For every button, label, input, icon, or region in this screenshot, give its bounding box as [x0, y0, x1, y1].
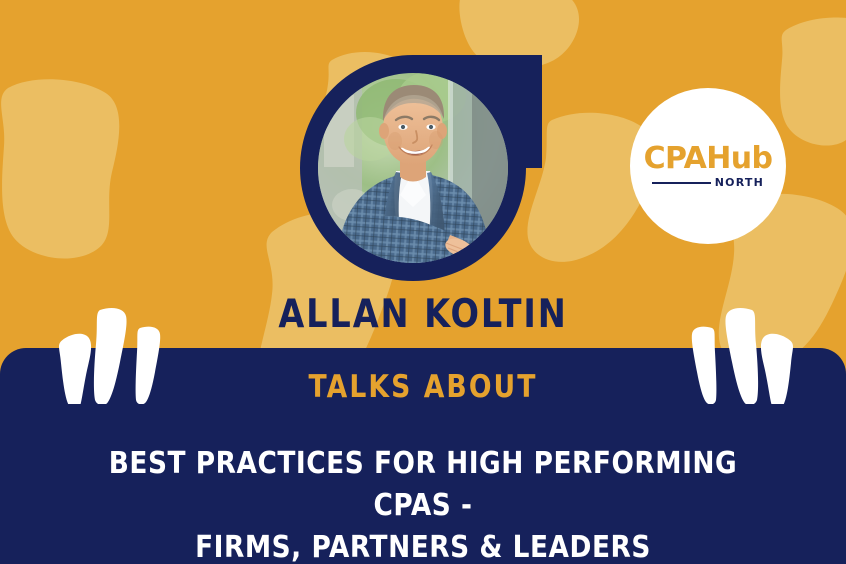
- speaker-name: ALLAN KOLTIN: [59, 292, 787, 337]
- speaker-promo-card: CPAHub NORTH ALLAN KOLTIN TALKS ABOUT BE…: [0, 0, 846, 564]
- portrait-frame-ring: [300, 55, 548, 281]
- logo-wordmark: CPAHub: [644, 144, 773, 174]
- logo-sub-label: NORTH: [715, 177, 764, 188]
- speaker-portrait: [300, 55, 548, 281]
- talks-about-kicker: TALKS ABOUT: [59, 369, 787, 405]
- talk-title-line-1: BEST PRACTICES FOR HIGH PERFORMING CPAS …: [109, 446, 737, 523]
- talk-title: BEST PRACTICES FOR HIGH PERFORMING CPAS …: [86, 443, 760, 564]
- talk-title-line-2: FIRMS, PARTNERS & LEADERS: [195, 530, 651, 564]
- logo-sub-row: NORTH: [652, 177, 764, 188]
- cpahub-north-logo: CPAHub NORTH: [630, 88, 786, 244]
- logo-rule: [652, 182, 711, 184]
